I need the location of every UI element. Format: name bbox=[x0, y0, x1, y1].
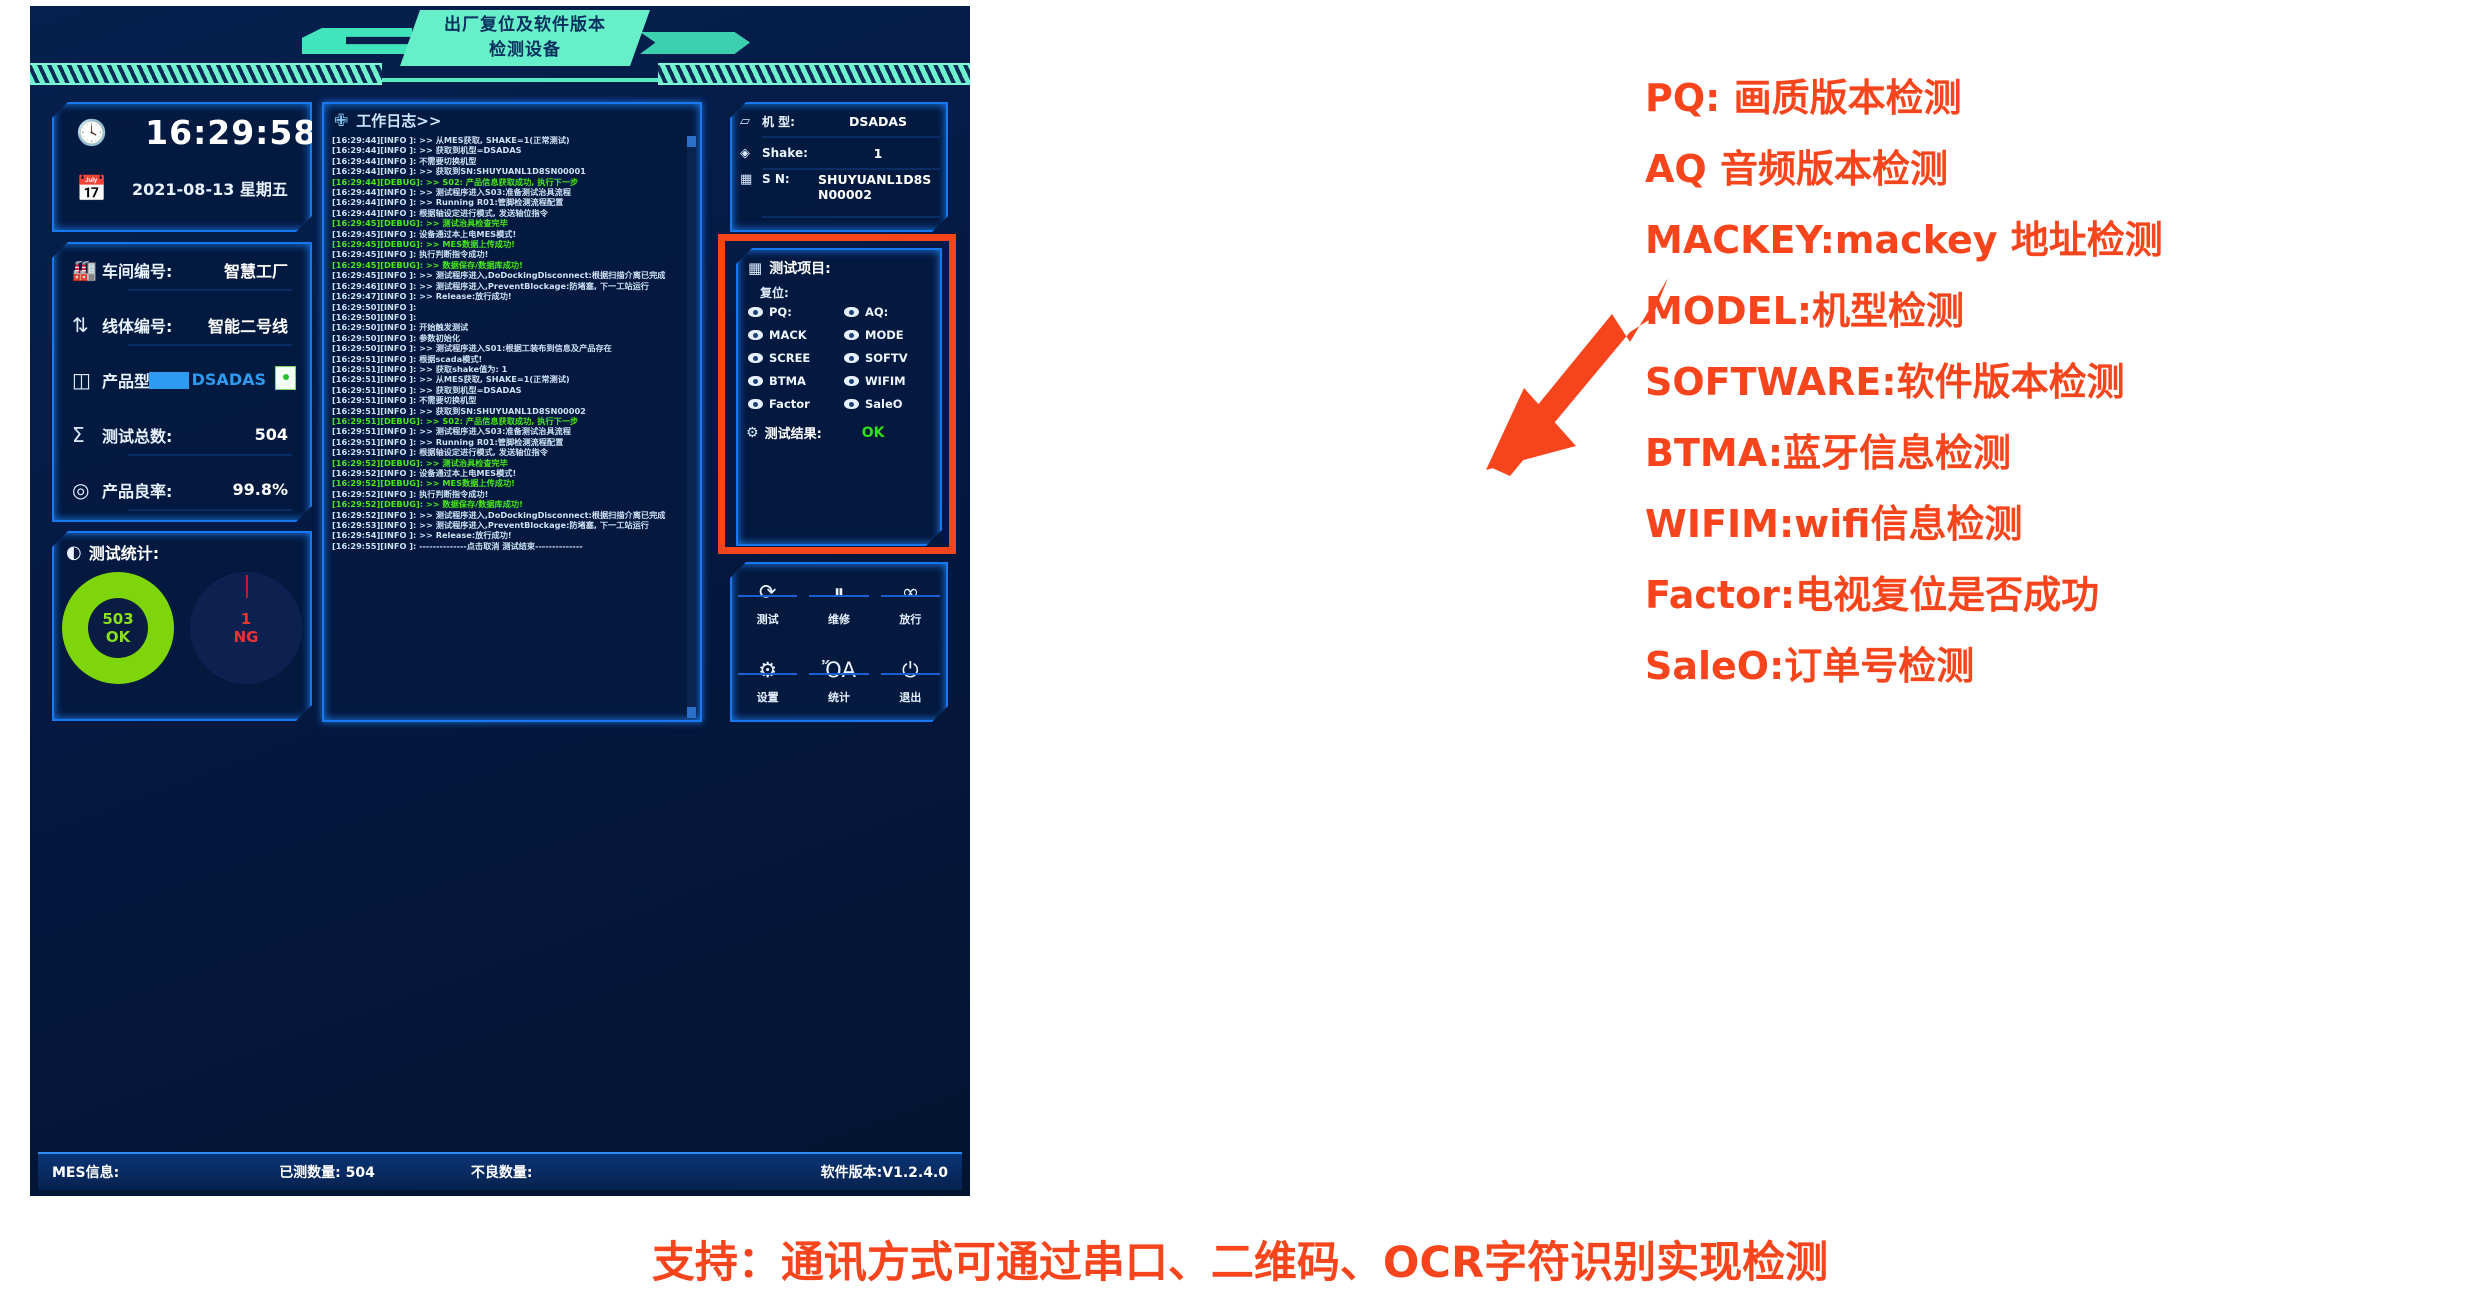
control-button-label: 维修 bbox=[828, 611, 850, 627]
clock-date-row: 📅 2021-08-13 星期五 bbox=[54, 160, 310, 216]
ng-label: NG bbox=[234, 628, 259, 646]
log-line: [16:29:45][INFO ]: >> 测试程序进入,DoDockingDi… bbox=[332, 270, 692, 280]
clock-panel: 🕓 16:29:58 📅 2021-08-13 星期五 bbox=[52, 102, 312, 232]
status-version: 软件版本:V1.2.4.0 bbox=[821, 1162, 948, 1182]
log-line: [16:29:44][INFO ]: >> 从MES获取, SHAKE=1(正常… bbox=[332, 135, 692, 145]
control-button-测试[interactable]: ⟳测试 bbox=[732, 564, 803, 642]
model-dropdown-button[interactable] bbox=[275, 366, 296, 390]
app-title-line2: 检测设备 bbox=[400, 38, 650, 63]
dropdown-dot-icon bbox=[283, 374, 289, 380]
log-line: [16:29:44][INFO ]: >> 测试程序进入S03:准备测试治具流程 bbox=[332, 187, 692, 197]
log-line: [16:29:44][INFO ]: >> 获取到SN:SHUYUANL1D8S… bbox=[332, 166, 692, 176]
sigma-icon: Σ bbox=[72, 423, 102, 447]
log-line: [16:29:45][DEBUG]: >> MES数据上传成功! bbox=[332, 239, 692, 249]
control-button-label: 统计 bbox=[828, 689, 850, 705]
clock-date: 2021-08-13 星期五 bbox=[132, 176, 288, 200]
log-line: [16:29:46][INFO ]: >> 测试程序进入,PreventBloc… bbox=[332, 281, 692, 291]
log-line: [16:29:44][INFO ]: 不需要切换机型 bbox=[332, 156, 692, 166]
log-line: [16:29:52][INFO ]: 执行判断指令成功! bbox=[332, 489, 692, 499]
ok-donut-chart: 503 OK bbox=[62, 572, 174, 684]
field-line-label: 线体编号: bbox=[102, 313, 172, 337]
hatch-stripe-right bbox=[658, 63, 970, 85]
power-icon: ⏻ bbox=[902, 658, 919, 684]
device-model-label: 机 型: bbox=[762, 113, 818, 130]
button-divider bbox=[809, 595, 868, 597]
log-header: ✙ 工作日志>> bbox=[324, 104, 700, 133]
ok-count: 503 bbox=[102, 610, 133, 628]
banner-arrow-left-icon bbox=[302, 28, 412, 54]
line-icon: ⇅ bbox=[72, 313, 102, 337]
device-sn-row: ▦ S N: SHUYUANL1D8SN00002 bbox=[732, 168, 946, 216]
field-line: ⇅ 线体编号: 智能二号线 bbox=[72, 299, 292, 350]
field-model-value: DSADAS bbox=[192, 370, 266, 389]
pause-icon: ⏸ bbox=[834, 580, 845, 606]
device-shake-row: ◈ Shake: 1 bbox=[732, 136, 946, 168]
annotation-line: SOFTWARE:软件版本检测 bbox=[1645, 356, 2465, 408]
control-button-统计[interactable]: ὌA统计 bbox=[803, 642, 874, 720]
log-line: [16:29:51][INFO ]: 根据scada模式! bbox=[332, 354, 692, 364]
annotation-line: BTMA:蓝牙信息检测 bbox=[1645, 427, 2465, 479]
control-buttons-grid: ⟳测试⏸维修∞放行⚙设置ὌA统计⏻退出 bbox=[732, 564, 946, 720]
device-shake-label: Shake: bbox=[762, 146, 818, 160]
log-line: [16:29:51][INFO ]: 根据轴设定进行模式, 发送轴位指令 bbox=[332, 447, 692, 457]
annotation-highlight-box bbox=[718, 234, 956, 554]
annotation-line: MACKEY:mackey 地址检测 bbox=[1645, 214, 2465, 266]
hatch-stripe-left bbox=[30, 63, 382, 85]
field-underline bbox=[128, 344, 292, 346]
control-buttons-panel: ⟳测试⏸维修∞放行⚙设置ὌA统计⏻退出 bbox=[730, 562, 948, 722]
log-line: [16:29:50][INFO ]: 参数初始化 bbox=[332, 333, 692, 343]
bar-chart-icon: ὌA bbox=[822, 658, 856, 684]
log-line: [16:29:45][DEBUG]: >> 数据保存/数据库成功! bbox=[332, 260, 692, 270]
hmi-screen: 出厂复位及软件版本 检测设备 🕓 16:29:58 📅 2021-08-13 星… bbox=[30, 6, 970, 1196]
banner-arrow-right-icon bbox=[640, 32, 750, 54]
button-divider bbox=[738, 673, 797, 675]
annotation-line: MODEL:机型检测 bbox=[1645, 285, 2465, 337]
shake-icon: ◈ bbox=[740, 146, 762, 161]
annotation-line: SaleO:订单号检测 bbox=[1645, 640, 2465, 692]
pie-chart-icon: ◐ bbox=[66, 542, 82, 563]
log-line: [16:29:53][INFO ]: >> 测试程序进入,PreventBloc… bbox=[332, 520, 692, 530]
log-line: [16:29:54][INFO ]: >> Release:放行成功! bbox=[332, 530, 692, 540]
field-underline bbox=[128, 454, 292, 456]
stats-title: 测试统计: bbox=[89, 540, 159, 564]
log-line: [16:29:51][INFO ]: >> 获取到机型=DSADAS bbox=[332, 385, 692, 395]
control-button-退出[interactable]: ⏻退出 bbox=[875, 642, 946, 720]
test-statistics-panel: ◐ 测试统计: 503 OK 1 NG bbox=[52, 531, 312, 721]
field-yield: ◎ 产品良率: 99.8% bbox=[72, 464, 292, 515]
field-workshop-value: 智慧工厂 bbox=[224, 258, 288, 282]
device-model-value: DSADAS bbox=[818, 114, 938, 129]
ng-count: 1 bbox=[241, 610, 251, 628]
button-divider bbox=[881, 673, 940, 675]
field-yield-label: 产品良率: bbox=[102, 478, 172, 502]
log-line: [16:29:44][INFO ]: 根据轴设定进行模式, 发送轴位指令 bbox=[332, 208, 692, 218]
hatch-connector bbox=[382, 78, 658, 82]
log-line: [16:29:50][INFO ]: >> 测试程序进入S01:根据工装布到信息… bbox=[332, 343, 692, 353]
log-line: [16:29:45][INFO ]: 执行判断指令成功! bbox=[332, 249, 692, 259]
release-icon: ∞ bbox=[902, 580, 920, 606]
clock-time: 16:29:58 bbox=[145, 113, 317, 152]
annotation-line: AQ 音频版本检测 bbox=[1645, 143, 2465, 195]
log-list[interactable]: [16:29:44][INFO ]: >> 从MES获取, SHAKE=1(正常… bbox=[324, 133, 700, 711]
device-info-panel: ▱ 机 型: DSADAS ◈ Shake: 1 ▦ S N: SHUYUANL… bbox=[730, 102, 948, 232]
log-line: [16:29:55][INFO ]: --------------点击取消 测试… bbox=[332, 541, 692, 551]
log-line: [16:29:44][INFO ]: >> 获取到机型=DSADAS bbox=[332, 145, 692, 155]
control-button-label: 放行 bbox=[899, 611, 921, 627]
ng-donut-chart: 1 NG bbox=[190, 572, 302, 684]
log-line: [16:29:50][INFO ]: bbox=[332, 312, 692, 322]
log-line: [16:29:51][INFO ]: >> 获取shake值为: 1 bbox=[332, 364, 692, 374]
target-icon: ◎ bbox=[72, 478, 102, 502]
log-icon: ✙ bbox=[334, 111, 348, 131]
play-refresh-icon: ⟳ bbox=[759, 580, 777, 606]
control-button-放行[interactable]: ∞放行 bbox=[875, 564, 946, 642]
button-divider bbox=[809, 673, 868, 675]
work-log-panel: ✙ 工作日志>> [16:29:44][INFO ]: >> 从MES获取, S… bbox=[322, 102, 702, 722]
button-divider bbox=[738, 595, 797, 597]
calendar-icon: 📅 bbox=[76, 176, 110, 201]
button-divider bbox=[881, 595, 940, 597]
field-underline bbox=[128, 289, 292, 291]
log-line: [16:29:45][DEBUG]: >> 测试治具检查完毕 bbox=[332, 218, 692, 228]
log-line: [16:29:52][DEBUG]: >> 数据保存/数据库成功! bbox=[332, 499, 692, 509]
clock-time-row: 🕓 16:29:58 bbox=[54, 104, 310, 160]
ok-donut-center: 503 OK bbox=[88, 598, 148, 658]
annotation-list: PQ: 画质版本检测AQ 音频版本检测MACKEY:mackey 地址检测MOD… bbox=[1645, 72, 2465, 711]
field-underline bbox=[128, 509, 292, 511]
field-workshop-label: 车间编号: bbox=[102, 258, 172, 282]
device-shake-value: 1 bbox=[818, 146, 938, 161]
device-underline bbox=[762, 216, 940, 218]
donut-row: 503 OK 1 NG bbox=[54, 572, 310, 684]
log-line: [16:29:52][DEBUG]: >> 测试治具检查完毕 bbox=[332, 458, 692, 468]
device-model-row: ▱ 机 型: DSADAS bbox=[732, 104, 946, 136]
factory-icon: 🏭 bbox=[72, 258, 102, 282]
log-line: [16:29:52][INFO ]: >> 测试程序进入,DoDockingDi… bbox=[332, 510, 692, 520]
log-line: [16:29:52][INFO ]: 设备通过本上电MES模式! bbox=[332, 468, 692, 478]
field-total-value: 504 bbox=[255, 425, 288, 444]
model-color-swatch bbox=[149, 372, 189, 389]
annotation-arrow-icon bbox=[1480, 270, 1670, 480]
annotation-line: WIFIM:wifi信息检测 bbox=[1645, 498, 2465, 550]
scroll-thumb-bottom[interactable] bbox=[687, 707, 696, 718]
log-line: [16:29:52][DEBUG]: >> MES数据上传成功! bbox=[332, 478, 692, 488]
ok-label: OK bbox=[106, 628, 130, 646]
scroll-thumb-top[interactable] bbox=[687, 136, 696, 147]
log-line: [16:29:51][INFO ]: >> Running R01:管脚检测流程… bbox=[332, 437, 692, 447]
field-total-label: 测试总数: bbox=[102, 423, 172, 447]
app-title-line1: 出厂复位及软件版本 bbox=[400, 13, 650, 38]
log-line: [16:29:44][DEBUG]: >> S02: 产品信息获取成功, 执行下… bbox=[332, 177, 692, 187]
status-bar: MES信息: 已测数量: 504 不良数量: 软件版本:V1.2.4.0 bbox=[38, 1152, 962, 1190]
box-icon: ◫ bbox=[72, 368, 102, 392]
log-line: [16:29:50][INFO ]: bbox=[332, 302, 692, 312]
log-title: 工作日志>> bbox=[356, 110, 441, 131]
device-sn-label: S N: bbox=[762, 172, 818, 186]
device-sn-value: SHUYUANL1D8SN00002 bbox=[818, 172, 938, 202]
ng-donut-center: 1 NG bbox=[216, 598, 276, 658]
status-defect: 不良数量: bbox=[471, 1162, 533, 1182]
control-button-设置[interactable]: ⚙设置 bbox=[732, 642, 803, 720]
log-line: [16:29:51][INFO ]: >> 测试程序进入S03:准备测试治具流程 bbox=[332, 426, 692, 436]
field-yield-value: 99.8% bbox=[232, 480, 288, 499]
field-model-value-wrap[interactable]: DSADAS bbox=[149, 370, 266, 389]
control-button-label: 退出 bbox=[899, 689, 921, 705]
sn-icon: ▦ bbox=[740, 172, 762, 187]
clock-icon: 🕓 bbox=[76, 120, 107, 145]
log-line: [16:29:51][INFO ]: >> 从MES获取, SHAKE=1(正常… bbox=[332, 374, 692, 384]
log-line: [16:29:51][INFO ]: >> 获取到SN:SHUYUANL1D8S… bbox=[332, 406, 692, 416]
log-line: [16:29:51][INFO ]: 不需要切换机型 bbox=[332, 395, 692, 405]
log-line: [16:29:45][INFO ]: 设备通过本上电MES模式! bbox=[332, 229, 692, 239]
log-line: [16:29:50][INFO ]: 开始触发测试 bbox=[332, 322, 692, 332]
bottom-caption: 支持：通讯方式可通过串口、二维码、OCR字符识别实现检测 bbox=[0, 1228, 2480, 1290]
header-banner: 出厂复位及软件版本 检测设备 bbox=[30, 6, 970, 84]
log-line: [16:29:47][INFO ]: >> Release:放行成功! bbox=[332, 291, 692, 301]
app-title: 出厂复位及软件版本 检测设备 bbox=[400, 10, 650, 66]
status-tested: 已测数量: 504 bbox=[279, 1162, 375, 1182]
annotation-line: PQ: 画质版本检测 bbox=[1645, 72, 2465, 124]
log-scrollbar[interactable] bbox=[687, 136, 696, 716]
field-workshop: 🏭 车间编号: 智慧工厂 bbox=[72, 244, 292, 295]
field-line-value: 智能二号线 bbox=[208, 313, 288, 337]
control-button-label: 设置 bbox=[757, 689, 779, 705]
status-mes: MES信息: bbox=[52, 1162, 119, 1182]
control-button-维修[interactable]: ⏸维修 bbox=[803, 564, 874, 642]
field-model[interactable]: ◫ 产品型号: DSADAS bbox=[72, 354, 292, 405]
stats-header: ◐ 测试统计: bbox=[54, 533, 310, 564]
gear-icon: ⚙ bbox=[758, 658, 777, 684]
control-button-label: 测试 bbox=[757, 611, 779, 627]
field-total: Σ 测试总数: 504 bbox=[72, 409, 292, 460]
log-line: [16:29:44][INFO ]: >> Running R01:管脚检测流程… bbox=[332, 197, 692, 207]
production-info-panel: 🏭 车间编号: 智慧工厂 ⇅ 线体编号: 智能二号线 ◫ 产品型号: DSADA… bbox=[52, 242, 312, 522]
log-line: [16:29:51][DEBUG]: >> S02: 产品信息获取成功, 执行下… bbox=[332, 416, 692, 426]
tv-icon: ▱ bbox=[740, 114, 762, 129]
annotation-line: Factor:电视复位是否成功 bbox=[1645, 569, 2465, 621]
